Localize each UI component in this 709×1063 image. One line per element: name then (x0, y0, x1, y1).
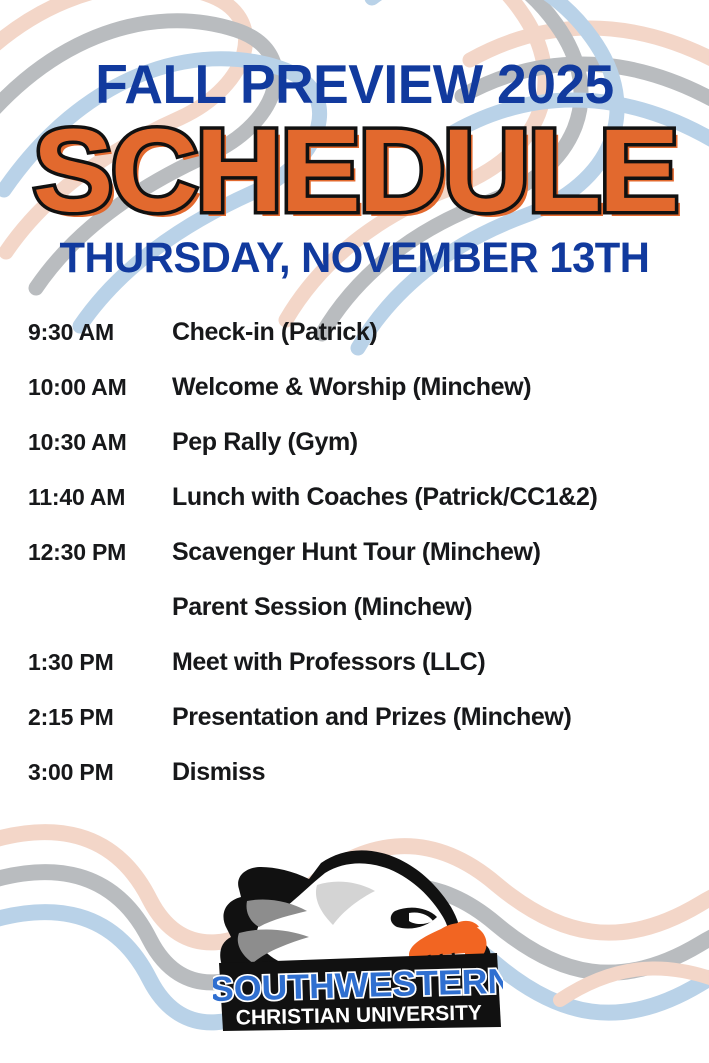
schedule-event: Meet with Professors (LLC) (172, 648, 693, 677)
page-title-main-wrap: SCHEDULE SCHEDULE (0, 112, 709, 232)
page-title-main: SCHEDULE SCHEDULE (33, 112, 677, 230)
logo-banner: SOUTHWESTERN CHRISTIAN UNIVERSITY (213, 953, 503, 1031)
schedule-row: 9:30 AMCheck-in (Patrick) (28, 318, 693, 373)
event-date: THURSDAY, NOVEMBER 13TH (11, 237, 699, 280)
schedule-event: Welcome & Worship (Minchew) (172, 373, 693, 402)
schedule-row: 10:30 AMPep Rally (Gym) (28, 428, 693, 483)
schedule-event: Parent Session (Minchew) (172, 593, 693, 622)
page-title-eyebrow: FALL PREVIEW 2025 (11, 57, 699, 112)
schedule-time: 10:30 AM (28, 429, 172, 456)
schedule-time: 3:00 PM (28, 759, 172, 786)
poster-canvas: FALL PREVIEW 2025 SCHEDULE SCHEDULE THUR… (0, 0, 709, 1063)
schedule-row: Parent Session (Minchew) (28, 593, 693, 648)
schedule-row: 3:00 PMDismiss (28, 758, 693, 813)
schedule-event: Pep Rally (Gym) (172, 428, 693, 457)
schedule-time: 10:00 AM (28, 374, 172, 401)
schedule-event: Dismiss (172, 758, 693, 787)
schedule-event: Check-in (Patrick) (172, 318, 693, 347)
schedule-time: 11:40 AM (28, 484, 172, 511)
schedule-time: 2:15 PM (28, 704, 172, 731)
schedule-row: 12:30 PMScavenger Hunt Tour (Minchew) (28, 538, 693, 593)
schedule-time: 12:30 PM (28, 539, 172, 566)
page-title-main-text: SCHEDULE (33, 105, 677, 237)
schedule-time: 9:30 AM (28, 319, 172, 346)
schedule-row: 10:00 AMWelcome & Worship (Minchew) (28, 373, 693, 428)
schedule-event: Scavenger Hunt Tour (Minchew) (172, 538, 693, 567)
schedule-row: 11:40 AMLunch with Coaches (Patrick/CC1&… (28, 483, 693, 538)
schedule-list: 9:30 AMCheck-in (Patrick)10:00 AMWelcome… (28, 318, 693, 813)
southwestern-christian-university-logo: SOUTHWESTERN CHRISTIAN UNIVERSITY (213, 845, 503, 1035)
schedule-row: 1:30 PMMeet with Professors (LLC) (28, 648, 693, 703)
schedule-time: 1:30 PM (28, 649, 172, 676)
schedule-row: 2:15 PMPresentation and Prizes (Minchew) (28, 703, 693, 758)
schedule-event: Presentation and Prizes (Minchew) (172, 703, 693, 732)
schedule-event: Lunch with Coaches (Patrick/CC1&2) (172, 483, 693, 512)
